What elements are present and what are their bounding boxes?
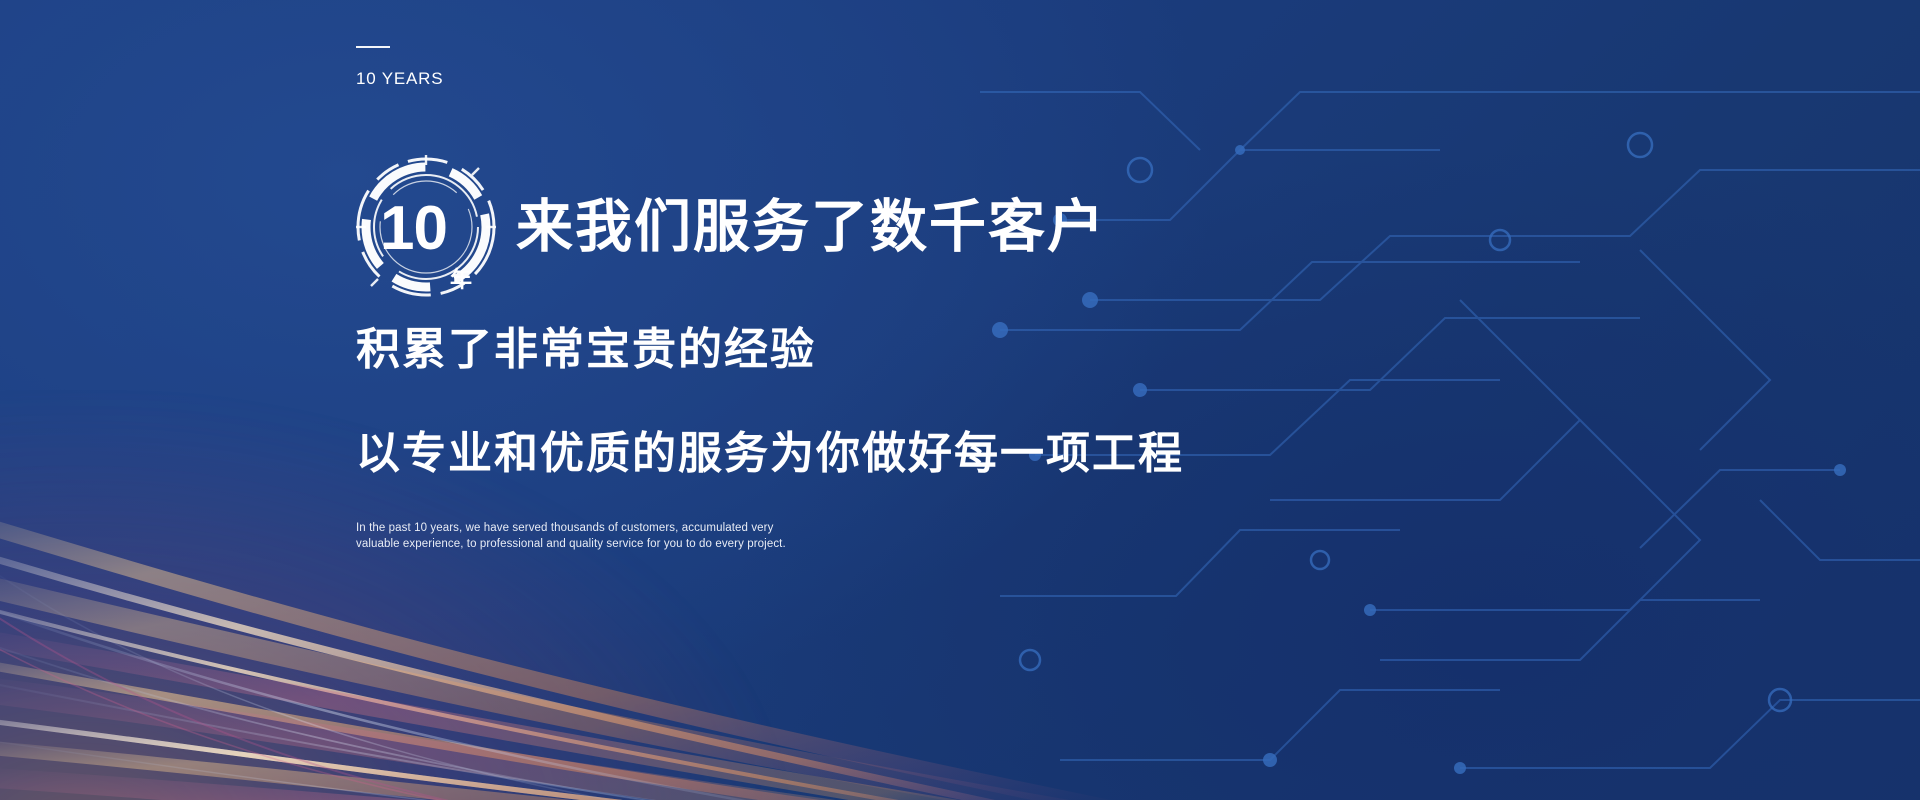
- headline-line-2: 积累了非常宝贵的经验: [356, 328, 816, 372]
- banner-content: 10 YEARS: [356, 0, 1556, 800]
- banner-subtext: In the past 10 years, we have served tho…: [356, 521, 786, 553]
- eyebrow-label: 10 YEARS: [356, 70, 1556, 87]
- badge-number: 10: [380, 198, 447, 260]
- badge-label: 10 年: [352, 153, 500, 301]
- headline-primary-row: 10 年 来我们服务了数千客户: [352, 152, 1106, 302]
- headline-line-1: 来我们服务了数千客户: [516, 199, 1106, 256]
- anniversary-badge: 10 年: [352, 153, 500, 301]
- eyebrow-divider: [356, 46, 390, 48]
- promo-banner: 10 YEARS: [0, 0, 1920, 800]
- headline-line-3: 以专业和优质的服务为你做好每一项工程: [356, 432, 1184, 476]
- badge-unit: 年: [447, 269, 472, 301]
